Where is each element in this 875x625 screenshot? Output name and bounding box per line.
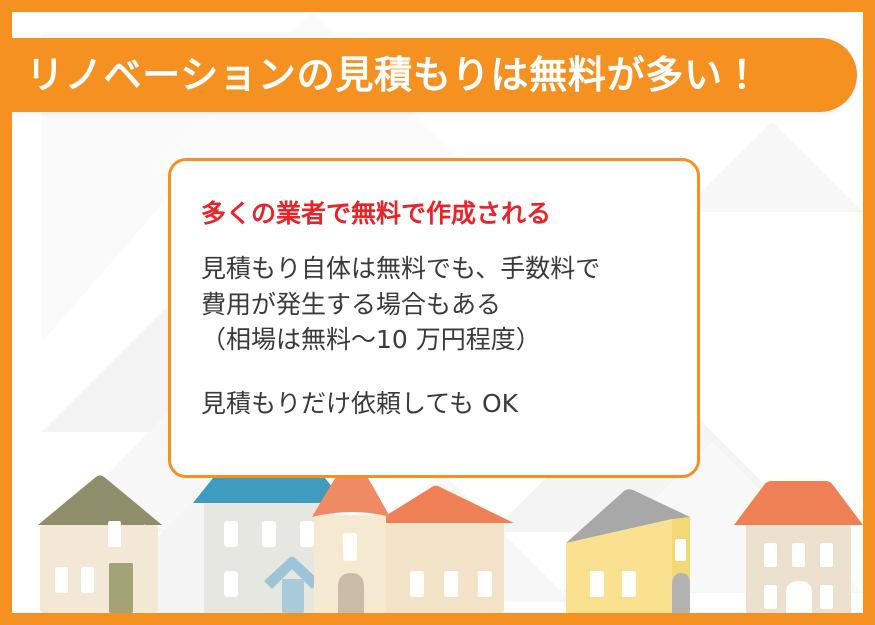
card-body-line-3: （相場は無料〜10 万円程度） [201,322,667,358]
banner-title: リノベーションの見積もりは無料が多い！ [26,56,762,94]
house-orange-roof [734,481,863,613]
title-banner: リノベーションの見積もりは無料が多い！ [12,38,857,112]
card-body: 見積もり自体は無料でも、手数料で 費用が発生する場合もある （相場は無料〜10 … [201,251,667,358]
card-heading: 多くの業者で無料で作成される [201,199,667,229]
card-body-line-2: 費用が発生する場合もある [201,287,667,323]
content-stage: リノベーションの見積もりは無料が多い！ 多くの業者で無料で作成される 見積もり自… [12,12,863,613]
content-card: 多くの業者で無料で作成される 見積もり自体は無料でも、手数料で 費用が発生する場… [168,158,700,478]
houses-illustration [12,463,863,613]
card-note: 見積もりだけ依頼しても OK [201,386,667,422]
house-gray-roof [566,489,690,613]
infographic-canvas: リノベーションの見積もりは無料が多い！ 多くの業者で無料で作成される 見積もり自… [0,0,875,625]
house-olive-roof [38,476,162,614]
house-salmon-tower [312,463,514,613]
card-body-line-1: 見積もり自体は無料でも、手数料で [201,251,667,287]
